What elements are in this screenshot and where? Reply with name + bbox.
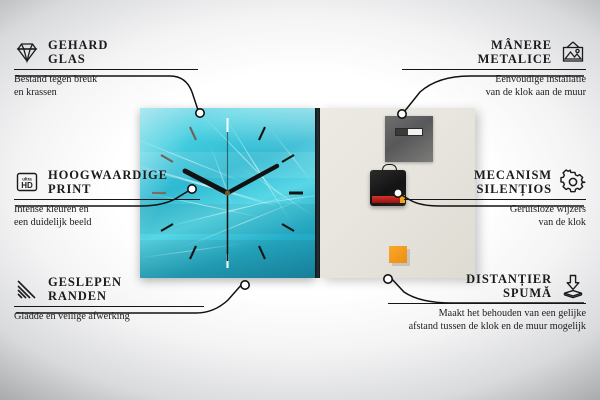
divider bbox=[14, 69, 198, 70]
divider bbox=[14, 199, 200, 200]
divider bbox=[404, 199, 586, 200]
hanger-slot bbox=[395, 128, 423, 136]
beveled-edge-icon bbox=[14, 276, 40, 302]
ultra-hd-icon: ultra HD bbox=[14, 169, 40, 195]
feature-title: MÂNERE METALICE bbox=[478, 38, 552, 66]
foam-spacer bbox=[389, 246, 407, 263]
feature-geslepen-randen: GESLEPEN RANDEN Gladde en veilige afwerk… bbox=[14, 275, 204, 324]
svg-text:HD: HD bbox=[21, 181, 33, 190]
picture-hanger-icon bbox=[560, 39, 586, 65]
feature-description: Intense kleuren en een duidelijk beeld bbox=[14, 204, 200, 229]
infographic-canvas: GEHARD GLAS Bestand tegen breuk en krass… bbox=[0, 0, 600, 400]
feature-mecanism-silentios: MECANISM SILENȚIOS Geruisloze wijzers va… bbox=[404, 168, 586, 229]
feature-title: GEHARD GLAS bbox=[48, 38, 108, 66]
feature-description: Geruisloze wijzers van de klok bbox=[404, 204, 586, 229]
minute-hand bbox=[228, 166, 278, 193]
callout-dot-geslepen-randen bbox=[241, 281, 249, 289]
feature-distantier-spuma: DISTANȚIER SPUMĂ Maakt het behouden van … bbox=[388, 272, 586, 333]
feature-gehard-glas: GEHARD GLAS Bestand tegen breuk en krass… bbox=[14, 38, 198, 99]
divider bbox=[14, 306, 204, 307]
diamond-icon bbox=[14, 39, 40, 65]
feature-title: MECANISM SILENȚIOS bbox=[474, 168, 552, 196]
feature-description: Bestand tegen breuk en krassen bbox=[14, 74, 198, 99]
gear-icon bbox=[560, 169, 586, 195]
metal-hanger-plate bbox=[385, 116, 433, 162]
feature-description: Maakt het behouden van een gelijke afsta… bbox=[388, 308, 586, 333]
feature-title: DISTANȚIER SPUMĂ bbox=[466, 272, 552, 300]
feature-description: Gladde en veilige afwerking bbox=[14, 311, 204, 323]
divider bbox=[388, 303, 586, 304]
feature-title: HOOGWAARDIGE PRINT bbox=[48, 168, 168, 196]
spacer-arrow-icon bbox=[560, 273, 586, 299]
battery bbox=[372, 196, 402, 203]
feature-title: GESLEPEN RANDEN bbox=[48, 275, 122, 303]
feature-description: Eenvoudige installatie van de klok aan d… bbox=[402, 74, 586, 99]
feature-manere-metalice: MÂNERE METALICE Eenvoudige installatie v… bbox=[402, 38, 586, 99]
feature-hd-print: ultra HD HOOGWAARDIGE PRINT Intense kleu… bbox=[14, 168, 200, 229]
divider bbox=[402, 69, 586, 70]
hands-hub bbox=[225, 190, 230, 195]
